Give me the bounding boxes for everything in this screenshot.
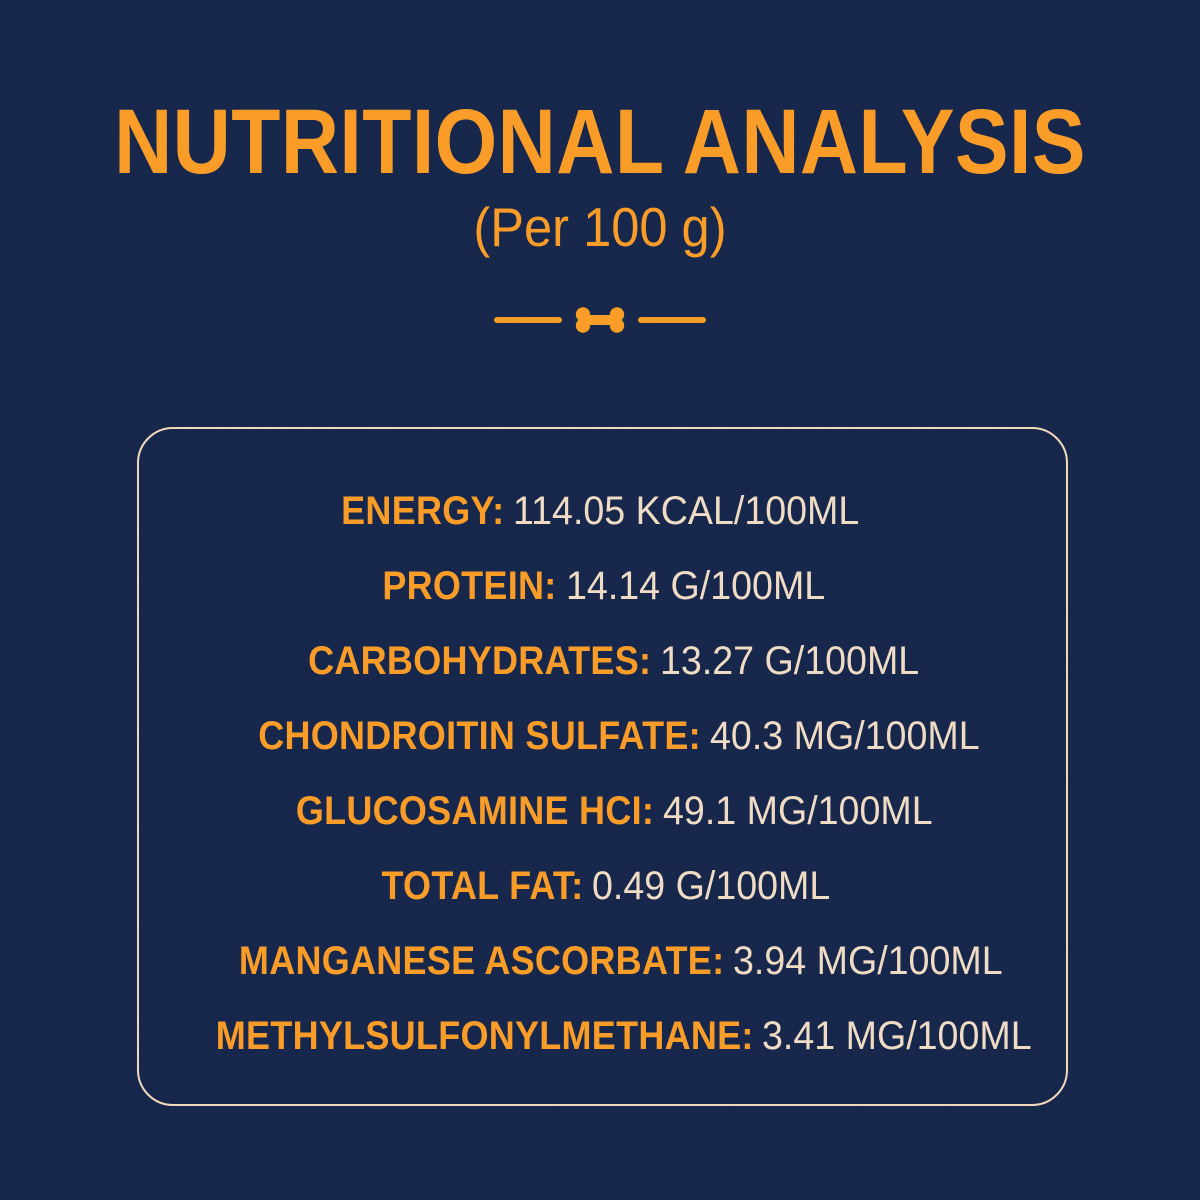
nutrition-label: CHONDROITIN SULFATE: xyxy=(258,716,701,756)
bone-icon xyxy=(572,305,628,335)
nutrition-row: CARBOHYDRATES:13.27 G/100ML xyxy=(139,623,1066,698)
nutrition-value: 49.1 MG/100ML xyxy=(663,791,933,831)
nutrition-label: MANGANESE ASCORBATE: xyxy=(239,941,724,981)
nutrition-value: 14.14 G/100ML xyxy=(566,566,825,606)
nutrition-value: 114.05 KCAL/100ML xyxy=(513,491,859,531)
page-title: NUTRITIONAL ANALYSIS xyxy=(75,96,1125,188)
nutrition-value: 40.3 MG/100ML xyxy=(710,716,980,756)
nutrition-row: ENERGY:114.05 KCAL/100ML xyxy=(139,473,1066,548)
nutrition-row: PROTEIN:14.14 G/100ML xyxy=(139,548,1066,623)
nutrition-label: METHYLSULFONYLMETHANE: xyxy=(216,1016,754,1056)
nutrition-value: 0.49 G/100ML xyxy=(592,866,830,906)
nutrition-label: TOTAL FAT: xyxy=(381,866,583,906)
nutrition-value: 3.94 MG/100ML xyxy=(733,941,1003,981)
nutrition-row: MANGANESE ASCORBATE:3.94 MG/100ML xyxy=(139,923,1066,998)
nutrition-label: CARBOHYDRATES: xyxy=(308,641,651,681)
section-divider xyxy=(0,300,1200,340)
nutrition-row: TOTAL FAT:0.49 G/100ML xyxy=(139,848,1066,923)
divider-rule-left xyxy=(494,317,562,323)
nutrition-label: GLUCOSAMINE HCI: xyxy=(295,791,653,831)
page-subtitle: (Per 100 g) xyxy=(48,200,1152,255)
divider-rule-right xyxy=(638,317,706,323)
nutrition-list: ENERGY:114.05 KCAL/100MLPROTEIN:14.14 G/… xyxy=(139,473,1066,1073)
nutrition-value: 3.41 MG/100ML xyxy=(762,1016,1032,1056)
nutrition-card: ENERGY:114.05 KCAL/100MLPROTEIN:14.14 G/… xyxy=(137,427,1068,1106)
nutrition-row: CHONDROITIN SULFATE:40.3 MG/100ML xyxy=(139,698,1066,773)
header: NUTRITIONAL ANALYSIS (Per 100 g) xyxy=(0,96,1200,255)
nutrition-infographic: NUTRITIONAL ANALYSIS (Per 100 g) ENERGY:… xyxy=(0,0,1200,1200)
nutrition-row: GLUCOSAMINE HCI:49.1 MG/100ML xyxy=(139,773,1066,848)
nutrition-row: METHYLSULFONYLMETHANE:3.41 MG/100ML xyxy=(139,998,1066,1073)
nutrition-label: ENERGY: xyxy=(341,491,504,531)
nutrition-value: 13.27 G/100ML xyxy=(660,641,919,681)
nutrition-label: PROTEIN: xyxy=(383,566,557,606)
